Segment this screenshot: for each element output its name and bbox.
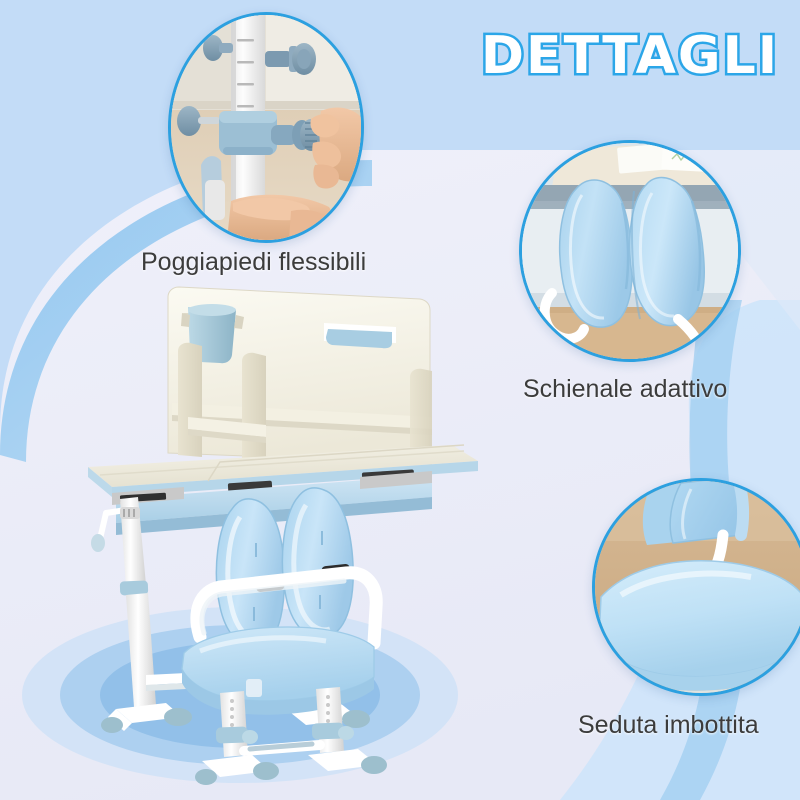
detail-photo-backrest <box>519 140 741 362</box>
caption-seat: Seduta imbottita <box>578 711 759 740</box>
caption-footrest: Poggiapiedi flessibili <box>141 248 366 277</box>
detail-photo-footrest <box>168 12 364 243</box>
seat-cushion-icon <box>595 481 800 693</box>
desk-chair-illustration <box>60 285 480 785</box>
page-title-text: DETTAGLI <box>481 26 779 86</box>
footrest-adjustment-icon <box>171 15 361 240</box>
infographic-canvas: DETTAGLI <box>0 0 800 800</box>
backrest-cushion-icon <box>522 143 738 359</box>
detail-photo-seat <box>592 478 800 696</box>
product-image-desk-and-chair <box>60 285 480 785</box>
caption-backrest: Schienale adattivo <box>523 375 727 404</box>
page-title: DETTAGLI <box>470 26 790 86</box>
